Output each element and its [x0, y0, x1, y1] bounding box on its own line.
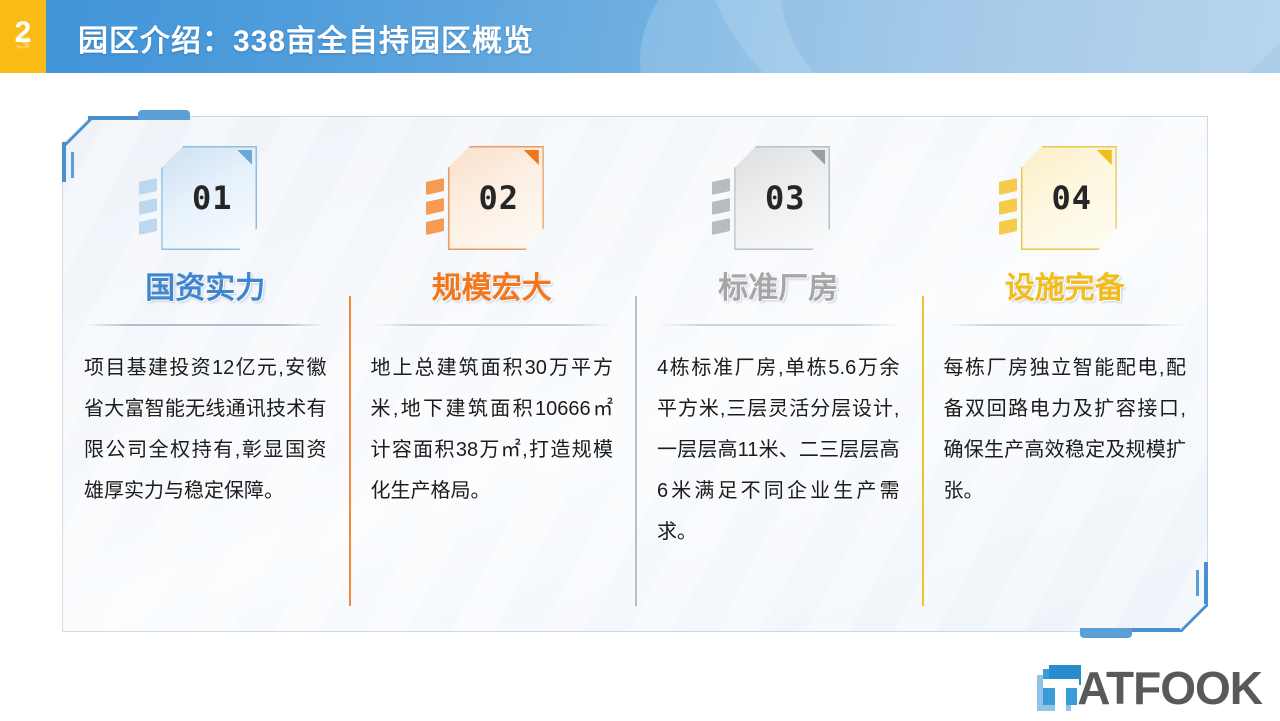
number-badge-02: 02: [440, 146, 544, 250]
badge-side-tabs-01: [139, 180, 157, 242]
feature-column-1: 01 国资实力 项目基建投资12亿元,安徽省大富智能无线通讯技术有限公司全权持有…: [62, 116, 349, 632]
feature-heading-3: 标准厂房: [653, 274, 904, 304]
badge-area-4: 04: [940, 116, 1191, 266]
number-badge-03: 03: [726, 146, 830, 250]
badge-side-tabs-03: [712, 180, 730, 242]
feature-heading-2: 规模宏大: [367, 274, 618, 304]
page-title: 园区介绍：338亩全自持园区概览: [78, 16, 534, 60]
feature-underline-3: [659, 324, 898, 326]
badge-side-tabs-02: [426, 180, 444, 242]
badge-area-1: 01: [80, 116, 331, 266]
slide-number-badge: 2 2: [0, 0, 46, 73]
badge-side-tabs-04: [999, 180, 1017, 242]
content-panel: 01 国资实力 项目基建投资12亿元,安徽省大富智能无线通讯技术有限公司全权持有…: [62, 116, 1208, 632]
feature-column-2: 02 规模宏大 地上总建筑面积30万平方米,地下建筑面积10666㎡ 计容面积3…: [349, 116, 636, 632]
slide-number-reflection: 2: [0, 34, 46, 51]
feature-columns: 01 国资实力 项目基建投资12亿元,安徽省大富智能无线通讯技术有限公司全权持有…: [62, 116, 1208, 632]
badge-area-3: 03: [653, 116, 904, 266]
number-badge-04: 04: [1013, 146, 1117, 250]
feature-underline-2: [373, 324, 612, 326]
logo-wordmark: ATFOOK: [1077, 665, 1262, 711]
feature-underline-1: [86, 324, 325, 326]
feature-column-4: 04 设施完备 每栋厂房独立智能配电,配备双回路电力及扩容接口,确保生产高效稳定…: [922, 116, 1209, 632]
badge-number-text-02: 02: [448, 146, 544, 250]
slide-header: 2 2 园区介绍：338亩全自持园区概览: [0, 0, 1280, 73]
logo-t-stem: [1055, 679, 1066, 711]
badge-number-text-03: 03: [734, 146, 830, 250]
logo-mark-icon: [1037, 665, 1083, 711]
feature-underline-4: [946, 324, 1185, 326]
feature-heading-4: 设施完备: [940, 274, 1191, 304]
feature-heading-1: 国资实力: [80, 274, 331, 304]
badge-area-2: 02: [367, 116, 618, 266]
number-badge-01: 01: [153, 146, 257, 250]
header-wave-decor-3: [668, 0, 1280, 73]
feature-column-3: 03 标准厂房 4栋标准厂房,单栋5.6万余平方米,三层灵活分层设计,一层层高1…: [635, 116, 922, 632]
feature-body-1: 项目基建投资12亿元,安徽省大富智能无线通讯技术有限公司全权持有,彰显国资雄厚实…: [80, 348, 331, 512]
badge-number-text-01: 01: [161, 146, 257, 250]
tatfook-logo: ATFOOK: [1037, 661, 1262, 715]
feature-body-2: 地上总建筑面积30万平方米,地下建筑面积10666㎡ 计容面积38万㎡,打造规模…: [367, 348, 618, 512]
feature-body-3: 4栋标准厂房,单栋5.6万余平方米,三层灵活分层设计,一层层高11米、二三层层高…: [653, 348, 904, 553]
badge-number-text-04: 04: [1021, 146, 1117, 250]
feature-body-4: 每栋厂房独立智能配电,配备双回路电力及扩容接口,确保生产高效稳定及规模扩张。: [940, 348, 1191, 512]
